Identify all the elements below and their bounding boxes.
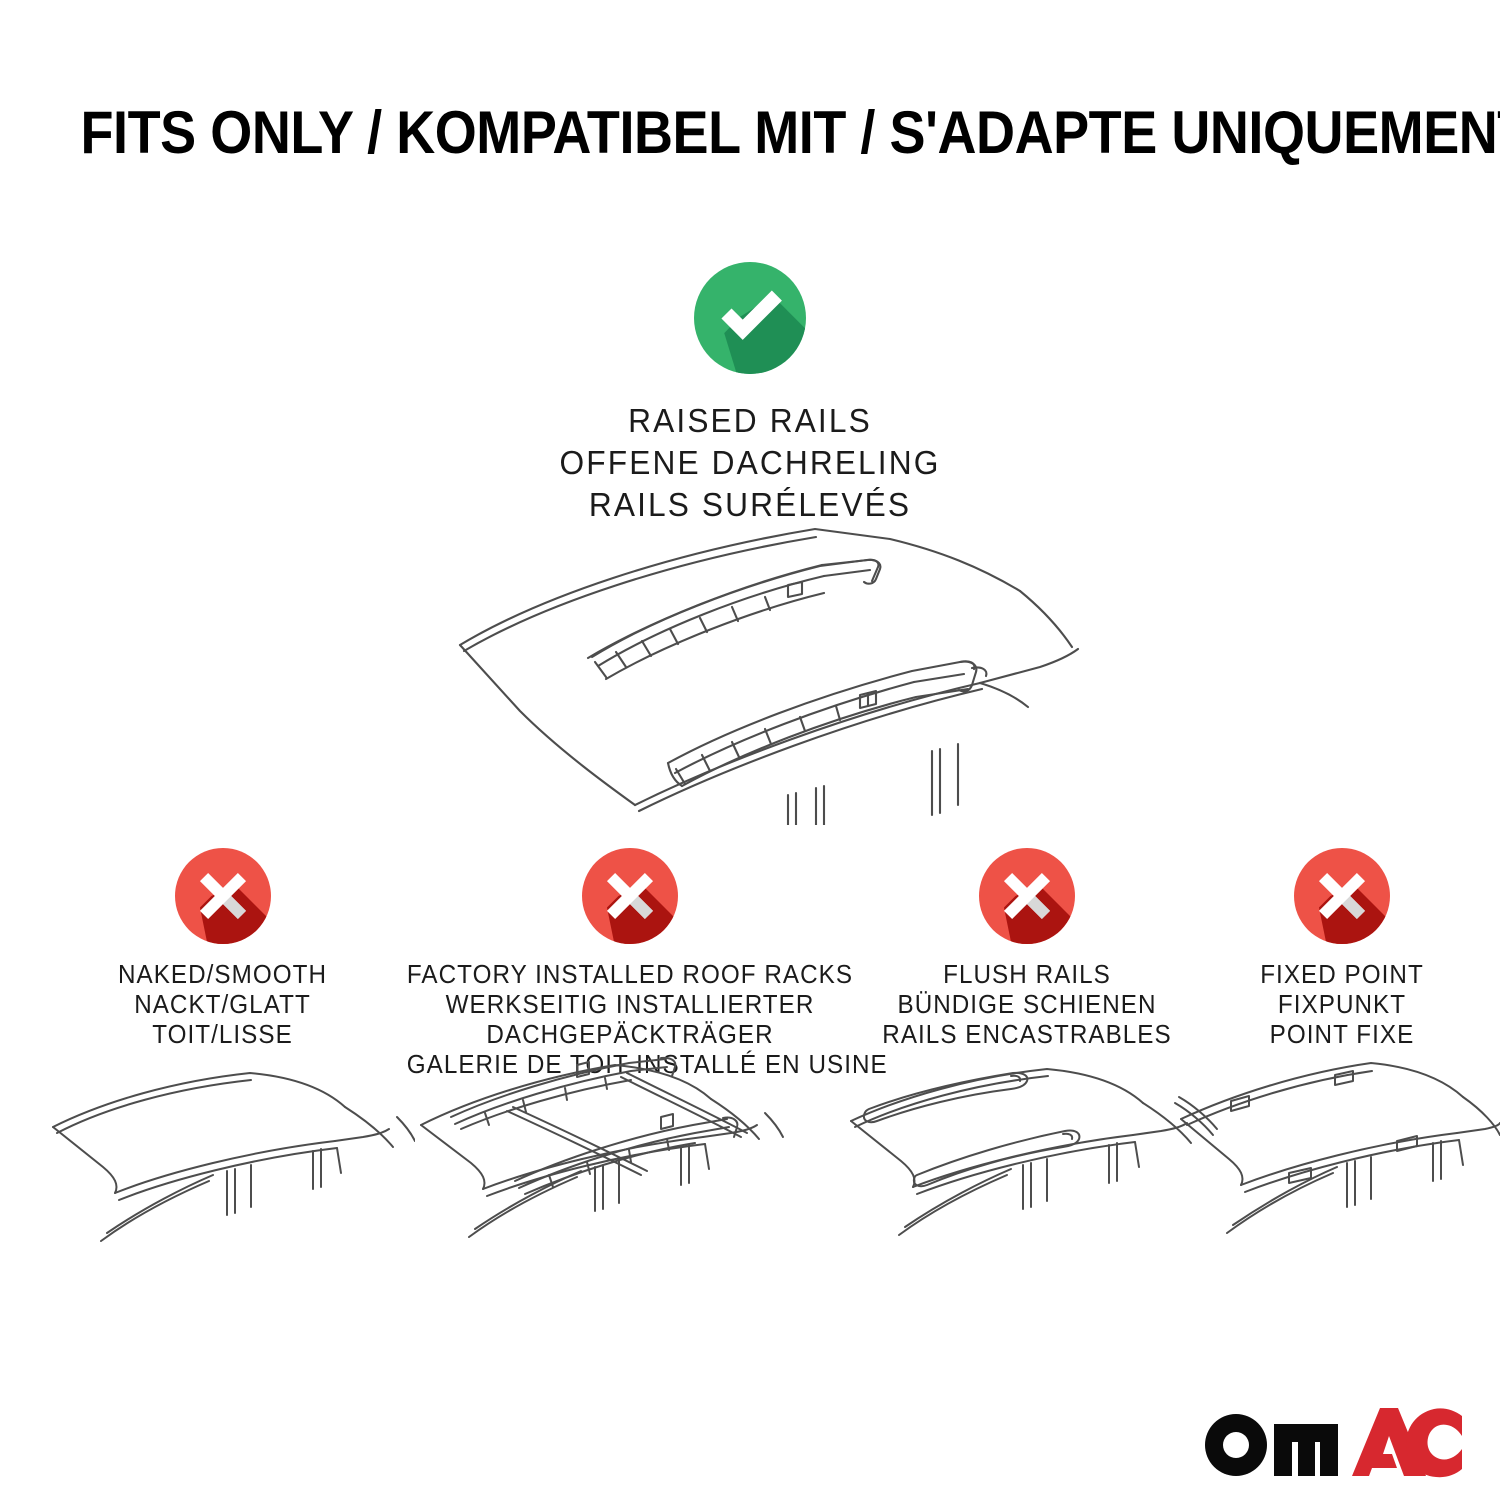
x-circle-icon (979, 848, 1075, 944)
rejected-caption-3: FIXED POINT FIXPUNKT POINT FIXE (1200, 960, 1485, 1050)
omac-logo (1202, 1404, 1462, 1480)
rejected-0-line-1: NAKED/SMOOTH (54, 960, 391, 990)
rejected-1-line-2: WERKSEITIG INSTALLIERTER (407, 990, 854, 1020)
rejected-1-line-3: DACHGEPÄCKTRÄGER (407, 1020, 854, 1050)
rejected-caption-0: NAKED/SMOOTH NACKT/GLATT TOIT/LISSE (54, 960, 391, 1050)
rejected-0-line-3: TOIT/LISSE (54, 1020, 391, 1050)
check-circle-icon (694, 262, 806, 374)
rejected-3-line-2: FIXPUNKT (1200, 990, 1485, 1020)
rejected-3-line-3: POINT FIXE (1200, 1020, 1485, 1050)
rejected-column-flush-rails: FLUSH RAILS BÜNDIGE SCHIENEN RAILS ENCAS… (862, 848, 1192, 1050)
rejected-3-line-1: FIXED POINT (1200, 960, 1485, 990)
rejected-column-factory-roof-racks: FACTORY INSTALLED ROOF RACKS WERKSEITIG … (395, 848, 865, 1080)
car-roof-raised-rails-illustration (420, 505, 1080, 825)
rejected-caption-2: FLUSH RAILS BÜNDIGE SCHIENEN RAILS ENCAS… (870, 960, 1184, 1050)
rejected-2-line-2: BÜNDIGE SCHIENEN (870, 990, 1184, 1020)
logo-letter-m (1274, 1424, 1338, 1476)
car-roof-naked-smooth-illustration (45, 1055, 415, 1300)
x-circle-icon (175, 848, 271, 944)
car-roof-fixed-point-illustration (1175, 1055, 1500, 1300)
rejected-1-line-1: FACTORY INSTALLED ROOF RACKS (407, 960, 854, 990)
rejected-0-line-2: NACKT/GLATT (54, 990, 391, 1020)
rejected-column-naked-smooth: NAKED/SMOOTH NACKT/GLATT TOIT/LISSE (45, 848, 400, 1050)
approved-line-1: RAISED RAILS (30, 400, 1470, 442)
rejected-2-line-3: RAILS ENCASTRABLES (870, 1020, 1184, 1050)
rejected-column-fixed-point: FIXED POINT FIXPUNKT POINT FIXE (1192, 848, 1492, 1050)
rejected-2-line-1: FLUSH RAILS (870, 960, 1184, 990)
rejected-section: NAKED/SMOOTH NACKT/GLATT TOIT/LISSE FACT… (0, 848, 1500, 1078)
car-roof-factory-roof-racks-illustration (415, 1055, 795, 1300)
x-circle-icon (582, 848, 678, 944)
x-circle-icon (1294, 848, 1390, 944)
page-title: FITS ONLY / KOMPATIBEL MIT / S'ADAPTE UN… (0, 100, 1500, 166)
approved-section: RAISED RAILS OFFENE DACHRELING RAILS SUR… (0, 262, 1500, 526)
car-roof-flush-rails-illustration (845, 1055, 1225, 1300)
approved-line-2: OFFENE DACHRELING (30, 442, 1470, 484)
page-title-text: FITS ONLY / KOMPATIBEL MIT / S'ADAPTE UN… (81, 100, 1500, 166)
rejected-illustrations (0, 1055, 1500, 1305)
